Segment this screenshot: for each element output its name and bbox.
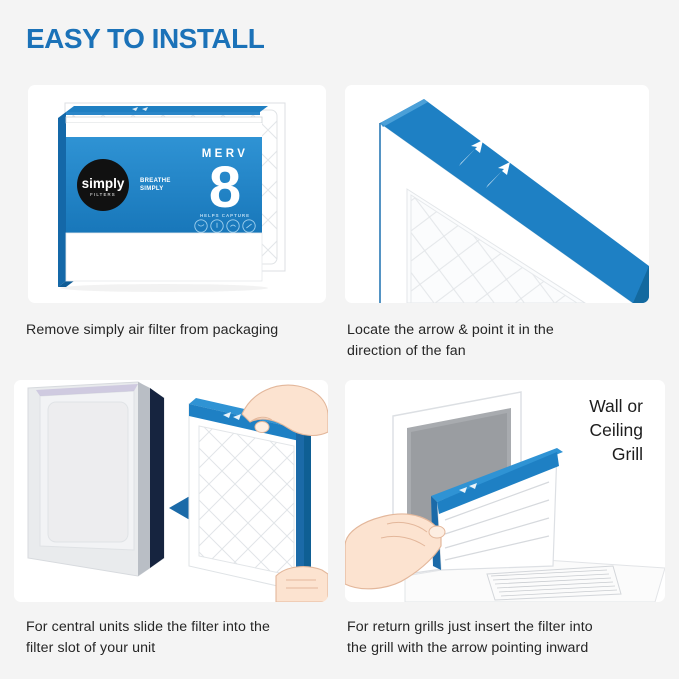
label-line-2: Ceiling [590,420,644,440]
brand-name: simply [82,176,125,191]
panel-3-card [14,380,328,602]
arrow-direction-illustration [345,85,649,303]
label-line-3: Grill [612,444,643,464]
air-handler-unit [28,382,164,576]
central-unit-illustration [14,380,328,602]
brand-subtitle: FILTERS [90,192,116,197]
panel-1-caption: Remove simply air filter from packaging [26,320,326,341]
panel-4-card: Wall or Ceiling Grill [345,380,665,602]
panel-2-card [345,85,649,303]
page-title: EASY TO INSTALL [26,23,264,55]
panel-2-caption: Locate the arrow & point it in the direc… [347,320,647,362]
tagline-line-1: BREATHE [140,178,171,184]
panel-4-caption: For return grills just insert the filter… [347,617,667,659]
wall-ceiling-grill-label: Wall or Ceiling Grill [589,396,643,464]
tagline-line-2: SIMPLY [140,186,164,192]
helps-capture-label: HELPS CAPTURE [200,213,250,218]
filter-box-illustration: simply FILTERS BREATHE SIMPLY MERV 8 HEL… [28,85,326,303]
label-line-1: Wall or [589,396,643,416]
panel-3-caption: For central units slide the filter into … [26,617,336,659]
filter-slot [150,388,164,568]
panel-1-card: simply FILTERS BREATHE SIMPLY MERV 8 HEL… [28,85,326,303]
box-shadow [60,284,268,292]
merv-value: 8 [209,155,241,220]
return-grill-illustration: Wall or Ceiling Grill [345,380,665,602]
hand-bottom-icon [276,567,328,602]
infographic-page: EASY TO INSTALL [0,0,679,679]
